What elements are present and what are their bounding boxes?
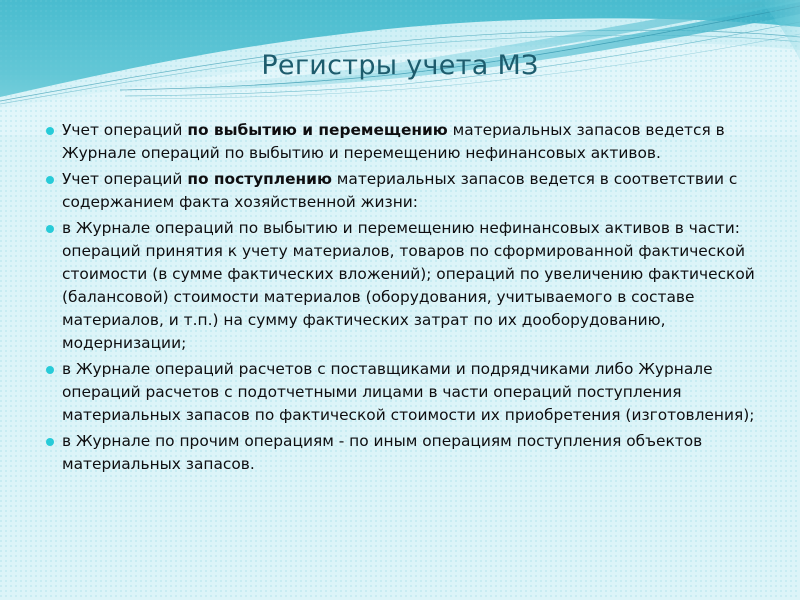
- bullet-text-run: Учет операций: [62, 170, 187, 188]
- bullet-text-run: Учет операций: [62, 121, 187, 139]
- bullet-text: Учет операций по выбытию и перемещению м…: [62, 119, 776, 165]
- bullet-item: Учет операций по поступлению материальны…: [46, 168, 776, 214]
- bullet-item: в Журнале операций по выбытию и перемеще…: [46, 217, 776, 355]
- bullet-dot-icon: [46, 168, 62, 191]
- bullet-dot-icon: [46, 217, 62, 240]
- bullet-dot-icon: [46, 358, 62, 381]
- bullet-text: в Журнале операций расчетов с поставщика…: [62, 358, 776, 427]
- slide-body: Учет операций по выбытию и перемещению м…: [46, 119, 776, 479]
- bullet-text-run: в Журнале операций по выбытию и перемеще…: [62, 219, 755, 352]
- bullet-item: в Журнале операций расчетов с поставщика…: [46, 358, 776, 427]
- bullet-text: Учет операций по поступлению материальны…: [62, 168, 776, 214]
- bullet-text-run: в Журнале по прочим операциям - по иным …: [62, 432, 702, 473]
- bullet-emphasis: по выбытию и перемещению: [187, 121, 447, 139]
- bullet-text: в Журнале по прочим операциям - по иным …: [62, 430, 776, 476]
- presentation-slide: Регистры учета МЗ Учет операций по выбыт…: [0, 0, 800, 600]
- bullet-dot-icon: [46, 430, 62, 453]
- bullet-dot-icon: [46, 119, 62, 142]
- bullet-item: в Журнале по прочим операциям - по иным …: [46, 430, 776, 476]
- bullet-text-run: в Журнале операций расчетов с поставщика…: [62, 360, 754, 424]
- bullet-text: в Журнале операций по выбытию и перемеще…: [62, 217, 776, 355]
- bullet-item: Учет операций по выбытию и перемещению м…: [46, 119, 776, 165]
- bullet-emphasis: по поступлению: [187, 170, 332, 188]
- page-title: Регистры учета МЗ: [0, 50, 800, 81]
